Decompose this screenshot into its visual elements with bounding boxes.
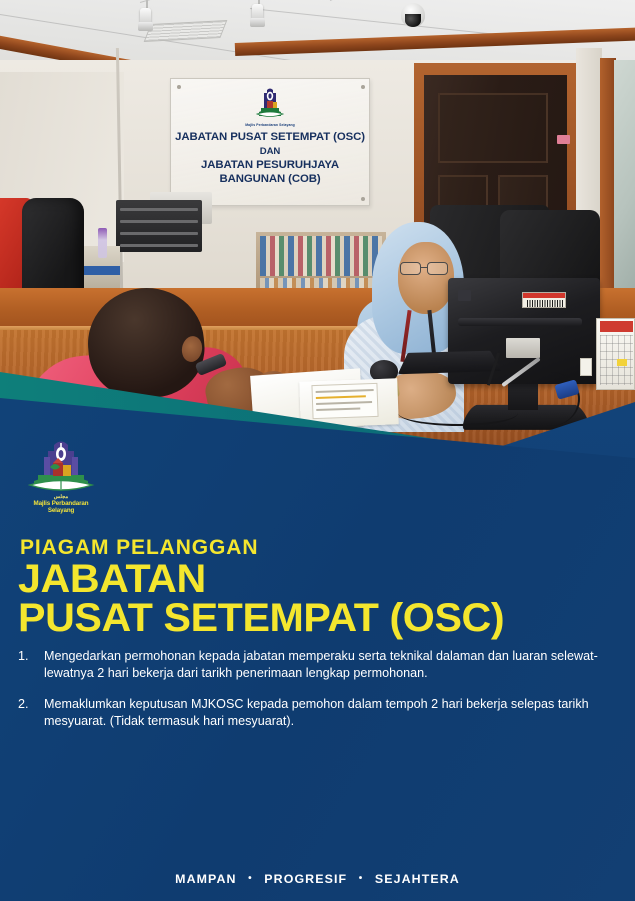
title-line-2: PUSAT SETEMPAT (OSC) — [18, 599, 504, 638]
council-logo-text: مجلس Majlis Perbandaran Selayang — [20, 495, 102, 515]
charter-item-number: 1. — [18, 648, 44, 682]
charter-list: 1. Mengedarkan permohonan kepada jabatan… — [18, 648, 618, 744]
footer-item-mampan: MAMPAN — [175, 872, 236, 886]
logo-malay-text: Majlis Perbandaran Selayang — [20, 501, 102, 515]
charter-item-number: 2. — [18, 696, 44, 730]
poster-root: Majlis Perbandaran Selayang JABATAN PUSA… — [0, 0, 635, 901]
charter-item-text: Mengedarkan permohonan kepada jabatan me… — [44, 648, 618, 682]
footer-item-sejahtera: SEJAHTERA — [375, 872, 460, 886]
poster-content: مجلس Majlis Perbandaran Selayang PIAGAM … — [0, 0, 635, 901]
title-line-1: JABATAN — [18, 560, 504, 599]
poster-footer: MAMPAN • PROGRESIF • SEJAHTERA — [0, 872, 635, 886]
council-logo: مجلس Majlis Perbandaran Selayang — [20, 441, 102, 515]
footer-separator: • — [248, 873, 253, 884]
charter-item: 2. Memaklumkan keputusan MJKOSC kepada p… — [18, 696, 618, 730]
footer-item-progresif: PROGRESIF — [264, 872, 347, 886]
poster-title: JABATAN PUSAT SETEMPAT (OSC) — [18, 560, 504, 638]
charter-item: 1. Mengedarkan permohonan kepada jabatan… — [18, 648, 618, 682]
charter-item-text: Memaklumkan keputusan MJKOSC kepada pemo… — [44, 696, 618, 730]
council-crest-icon — [20, 441, 102, 497]
footer-separator: • — [359, 873, 364, 884]
